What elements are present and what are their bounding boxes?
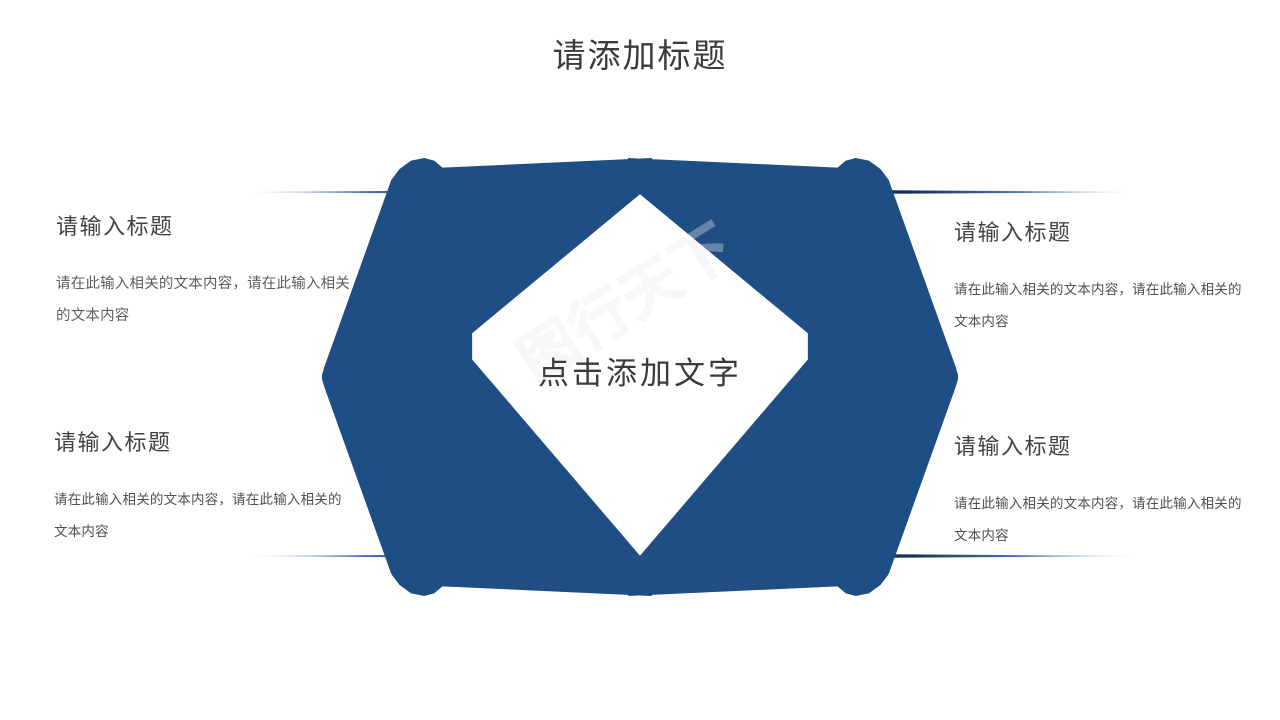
text-block-top-right-heading[interactable]: 请输入标题 (954, 218, 1254, 248)
text-block-bottom-left: 请输入标题 请在此输入相关的文本内容，请在此输入相关的文本内容 (54, 428, 354, 548)
text-block-bottom-right-heading[interactable]: 请输入标题 (954, 432, 1254, 462)
text-block-top-left-body[interactable]: 请在此输入相关的文本内容，请在此输入相关的文本内容 (56, 268, 356, 332)
text-block-top-left: 请输入标题 请在此输入相关的文本内容，请在此输入相关的文本内容 (56, 212, 356, 332)
text-block-bottom-left-body[interactable]: 请在此输入相关的文本内容，请在此输入相关的文本内容 (54, 484, 354, 548)
page-title[interactable]: 请添加标题 (0, 36, 1280, 78)
text-block-bottom-right: 请输入标题 请在此输入相关的文本内容，请在此输入相关的文本内容 (954, 432, 1254, 552)
text-block-top-right: 请输入标题 请在此输入相关的文本内容，请在此输入相关的文本内容 (954, 218, 1254, 338)
text-block-bottom-left-heading[interactable]: 请输入标题 (54, 428, 354, 458)
text-block-top-right-body[interactable]: 请在此输入相关的文本内容，请在此输入相关的文本内容 (954, 274, 1254, 338)
text-block-bottom-right-body[interactable]: 请在此输入相关的文本内容，请在此输入相关的文本内容 (954, 488, 1254, 552)
slide-canvas: 请添加标题 图行天下 点击添加文字 请输入标题 请在此输入相关的文本内容，请在此… (0, 0, 1280, 720)
text-block-top-left-heading[interactable]: 请输入标题 (56, 212, 356, 242)
center-placeholder-text[interactable]: 点击添加文字 (440, 352, 840, 396)
